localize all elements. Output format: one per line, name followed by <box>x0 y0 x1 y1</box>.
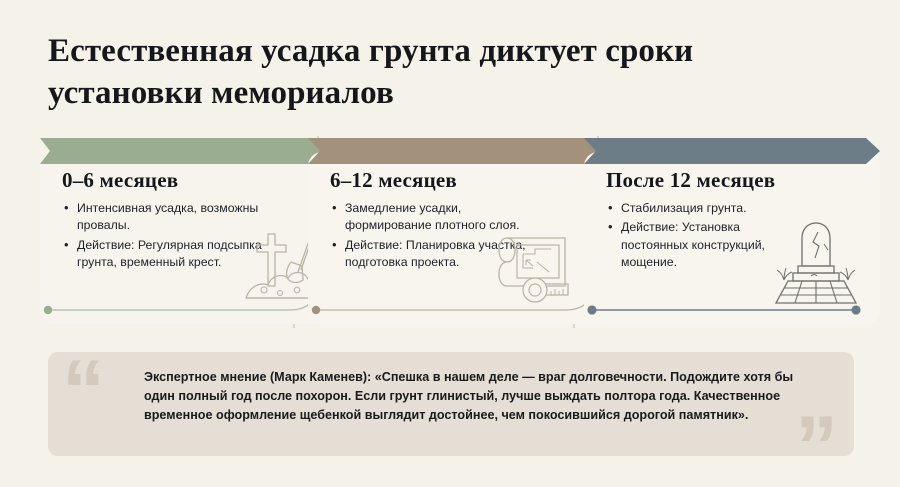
list-item: Замедление усадки, формирование плотного… <box>330 200 526 235</box>
infographic-root: Естественная усадка грунта диктует сроки… <box>0 0 900 487</box>
quote-open-icon: “ <box>62 352 105 434</box>
stage-card-6-12[interactable]: 6–12 месяцев Замедление усадки, формиров… <box>308 132 608 324</box>
list-item: Действие: Планировка участка, подготовка… <box>330 237 526 272</box>
stage-baseline-6-12 <box>308 292 608 332</box>
page-title: Естественная усадка грунта диктует сроки… <box>48 30 748 114</box>
stage-baseline-0-6 <box>40 292 332 332</box>
stage-card-after-12[interactable]: После 12 месяцев Стабилизация грунта. Де… <box>584 132 880 324</box>
stage-bullet-list: Стабилизация грунта. Действие: Установка… <box>606 200 806 274</box>
stage-heading: После 12 месяцев <box>606 168 775 193</box>
stage-banner-0-6 <box>40 138 332 164</box>
stage-banner-6-12 <box>308 138 608 164</box>
list-item: Действие: Регулярная подсыпка грунта, вр… <box>62 237 262 272</box>
stage-bullet-list: Интенсивная усадка, возможны провалы. Де… <box>62 200 262 274</box>
quote-text: Экспертное мнение (Марк Каменев): «Спешк… <box>144 368 816 425</box>
stage-banner-after-12 <box>584 138 880 164</box>
stage-baseline-after-12 <box>584 292 880 332</box>
expert-quote-block: “ ” Экспертное мнение (Марк Каменев): «С… <box>48 352 854 456</box>
list-item: Действие: Установка постоянных конструкц… <box>606 219 806 271</box>
list-item: Стабилизация грунта. <box>606 200 806 217</box>
stage-heading: 6–12 месяцев <box>330 168 457 193</box>
stage-card-0-6[interactable]: 0–6 месяцев Интенсивная усадка, возможны… <box>40 132 332 324</box>
stage-bullet-list: Замедление усадки, формирование плотного… <box>330 200 526 274</box>
list-item: Интенсивная усадка, возможны провалы. <box>62 200 262 235</box>
stage-heading: 0–6 месяцев <box>62 168 178 193</box>
stage-cards: 0–6 месяцев Интенсивная усадка, возможны… <box>0 132 900 324</box>
